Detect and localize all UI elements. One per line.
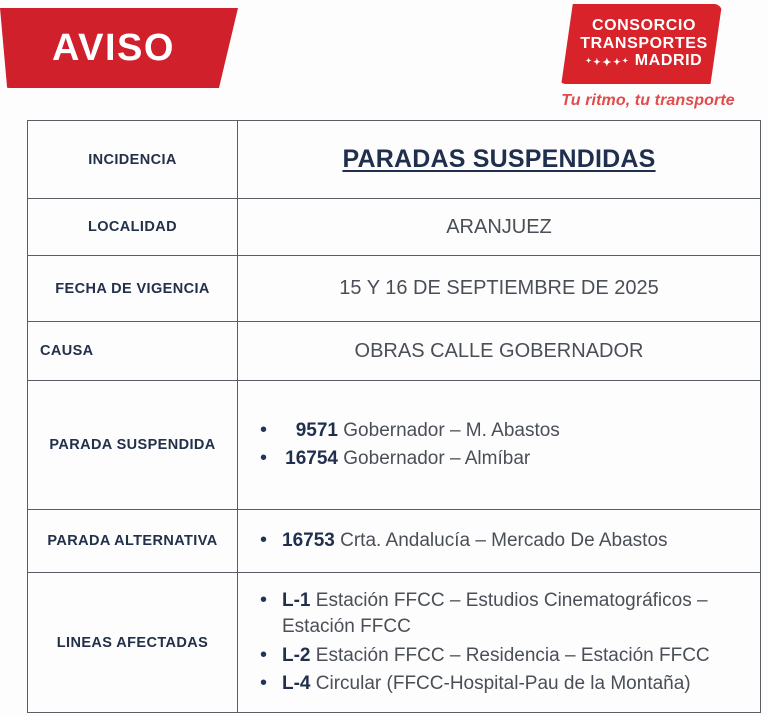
line-code: L-1 (282, 590, 311, 611)
stop-name: Gobernador – Almíbar (343, 448, 530, 469)
label-parada-alternativa: PARADA ALTERNATIVA (28, 510, 238, 573)
line-name: Estación FFCC – Estudios Cinematográfico… (282, 590, 708, 637)
label-lineas-afectadas: LINEAS AFECTADAS (28, 573, 238, 713)
list-item: L-1 Estación FFCC – Estudios Cinematográ… (256, 588, 750, 640)
value-causa: OBRAS CALLE GOBERNADOR (238, 322, 761, 381)
logo-line-madrid: MADRID (635, 53, 703, 70)
notice-page: AVISO CONSORCIO TRANSPORTES ✦ ✦ ✦ ✦ ✦ MA… (0, 0, 768, 716)
value-parada-suspendida: 9571 Gobernador – M. Abastos 16754 Gober… (238, 381, 761, 510)
logo-line-madrid-row: ✦ ✦ ✦ ✦ ✦ MADRID (586, 53, 703, 70)
list-item: 9571 Gobernador – M. Abastos (256, 418, 750, 444)
line-name: Estación FFCC – Residencia – Estación FF… (316, 645, 710, 666)
page-header: AVISO CONSORCIO TRANSPORTES ✦ ✦ ✦ ✦ ✦ MA… (0, 0, 768, 118)
list-item: 16753 Crta. Andalucía – Mercado De Abast… (256, 528, 750, 554)
value-incidencia: PARADAS SUSPENDIDAS (238, 121, 761, 199)
label-parada-suspendida: PARADA SUSPENDIDA (28, 381, 238, 510)
list-item: 16754 Gobernador – Almíbar (256, 446, 750, 472)
table-row-localidad: LOCALIDAD ARANJUEZ (28, 199, 761, 256)
value-lineas-afectadas: L-1 Estación FFCC – Estudios Cinematográ… (238, 573, 761, 713)
table-row-parada-alternativa: PARADA ALTERNATIVA 16753 Crta. Andalucía… (28, 510, 761, 573)
line-code: L-4 (282, 673, 311, 694)
table-row-parada-suspendida: PARADA SUSPENDIDA 9571 Gobernador – M. A… (28, 381, 761, 510)
label-incidencia: INCIDENCIA (28, 121, 238, 199)
parada-alternativa-list: 16753 Crta. Andalucía – Mercado De Abast… (256, 528, 750, 554)
stop-name: Crta. Andalucía – Mercado De Abastos (340, 530, 667, 551)
value-fecha-de-vigencia: 15 Y 16 DE SEPTIEMBRE DE 2025 (238, 256, 761, 322)
table-row-lineas-afectadas: LINEAS AFECTADAS L-1 Estación FFCC – Est… (28, 573, 761, 713)
label-fecha-de-vigencia: FECHA DE VIGENCIA (28, 256, 238, 322)
stop-code: 9571 (282, 418, 338, 444)
line-name: Circular (FFCC-Hospital-Pau de la Montañ… (316, 673, 691, 694)
notice-table: INCIDENCIA PARADAS SUSPENDIDAS LOCALIDAD… (27, 120, 761, 713)
line-code: L-2 (282, 645, 311, 666)
logo-line-consorcio: CONSORCIO (592, 18, 696, 35)
table-row-causa: CAUSA OBRAS CALLE GOBERNADOR (28, 322, 761, 381)
parada-suspendida-list: 9571 Gobernador – M. Abastos 16754 Gober… (256, 418, 750, 472)
aviso-banner: AVISO (0, 8, 238, 88)
label-localidad: LOCALIDAD (28, 199, 238, 256)
value-parada-alternativa: 16753 Crta. Andalucía – Mercado De Abast… (238, 510, 761, 573)
stop-code: 16754 (282, 446, 338, 472)
value-localidad: ARANJUEZ (238, 199, 761, 256)
logo-line-transportes: TRANSPORTES (580, 36, 708, 53)
aviso-banner-label: AVISO (52, 29, 175, 67)
label-causa: CAUSA (28, 322, 238, 381)
logo-tagline: Tu ritmo, tu transporte (560, 92, 736, 110)
list-item: L-2 Estación FFCC – Residencia – Estació… (256, 643, 750, 669)
madrid-seven-stars-icon: ✦ ✦ ✦ ✦ ✦ (586, 55, 629, 68)
stop-code: 16753 (282, 530, 335, 551)
table-row-fecha-de-vigencia: FECHA DE VIGENCIA 15 Y 16 DE SEPTIEMBRE … (28, 256, 761, 322)
stop-name: Gobernador – M. Abastos (343, 420, 560, 441)
list-item: L-4 Circular (FFCC-Hospital-Pau de la Mo… (256, 671, 750, 697)
table-row-incidencia: INCIDENCIA PARADAS SUSPENDIDAS (28, 121, 761, 199)
lineas-afectadas-list: L-1 Estación FFCC – Estudios Cinematográ… (256, 588, 750, 697)
crtm-logo: CONSORCIO TRANSPORTES ✦ ✦ ✦ ✦ ✦ MADRID T… (558, 4, 734, 114)
logo-text-block: CONSORCIO TRANSPORTES ✦ ✦ ✦ ✦ ✦ MADRID (558, 4, 722, 84)
